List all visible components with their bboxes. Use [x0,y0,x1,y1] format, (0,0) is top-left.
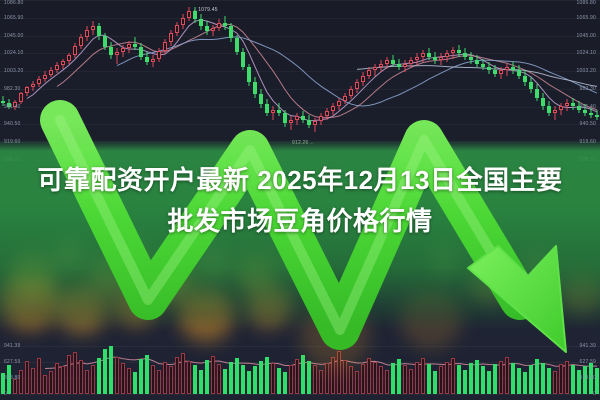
headline-line-1: 可靠配资开户最新 2025年12月13日全国主要 [38,165,563,195]
headline: 可靠配资开户最新 2025年12月13日全国主要 批发市场豆角价格行情 [0,160,600,242]
screenshot-root: 1086.801086.801065.901065.901045.001045.… [0,0,600,400]
headline-line-2: 批发市场豆角价格行情 [26,201,574,242]
